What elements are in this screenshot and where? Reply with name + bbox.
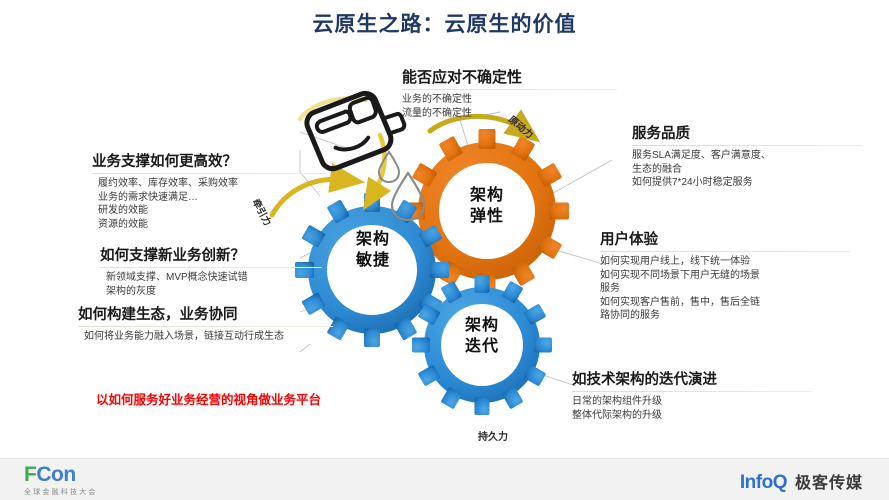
block-ecology: 如何构建生态，业务协同 如何将业务能力融入场景，链接互动行成生态 [78, 303, 333, 344]
block-quality-line: 如何提供7*24小时稳定服务 [632, 176, 862, 190]
fcon-logo-con: Con [36, 463, 75, 486]
fcon-logo-f: F [24, 463, 36, 486]
block-efficiency: 业务支撑如何更高效？ 履约效率、库存效率、采购效率 业务的需求快速满足… 研发的… [92, 150, 327, 231]
block-innovation-body: 新领域支撑、MVP概念快速试错 架构的灰度 [100, 271, 322, 298]
infoq-logo-wordmark: InfoQ [740, 472, 787, 494]
red-emphasis-note: 以如何服务好业务经营的视角做业务平台 [96, 389, 321, 408]
block-experience-line: 如何实现用户线上，线下统一体验 [600, 255, 850, 269]
slide-footer: FCon 全球金融科技大会 InfoQ 极客传媒 [0, 458, 889, 500]
block-efficiency-line: 业务的需求快速满足… [98, 191, 327, 205]
block-quality-line: 服务SLA满足度、客户满意度、 [632, 149, 862, 163]
block-experience-body: 如何实现用户线上，线下统一体验 如何实现不同场景下用户无缝的场景 服务 如何实现… [600, 255, 850, 323]
block-evolution-body: 日常的架构组件升级 整体代际架构的升级 [572, 395, 812, 422]
block-evolution: 如技术架构的迭代演进 日常的架构组件升级 整体代际架构的升级 [572, 368, 812, 422]
block-uncertainty-line: 流量的不确定性 [402, 107, 617, 121]
infoq-logo: InfoQ 极客传媒 [740, 469, 863, 494]
block-evolution-heading: 如技术架构的迭代演进 [572, 368, 812, 391]
block-quality: 服务品质 服务SLA满足度、客户满意度、 生态的融合 如何提供7*24小时稳定服… [632, 122, 862, 190]
gear-label-agile-line2: 敏捷 [318, 250, 428, 271]
block-experience-line: 如何实现不同场景下用户无缝的场景 [600, 269, 850, 283]
gear-label-elastic: 架构 弹性 [432, 185, 542, 227]
block-uncertainty-heading: 能否应对不确定性 [402, 66, 617, 89]
block-innovation-heading: 如何支撑新业务创新？ [100, 244, 322, 267]
block-ecology-body: 如何将业务能力融入场景，链接互动行成生态 [78, 330, 333, 344]
block-experience-line: 路协同的服务 [600, 309, 850, 323]
block-experience-line: 服务 [600, 282, 850, 296]
block-efficiency-body: 履约效率、库存效率、采购效率 业务的需求快速满足… 研发的效能 资源的效能 [92, 177, 327, 231]
gear-label-iterate-line1: 架构 [427, 315, 537, 336]
block-experience-heading: 用户体验 [600, 228, 850, 251]
fcon-logo-subtitle: 全球金融科技大会 [24, 487, 98, 497]
block-efficiency-heading: 业务支撑如何更高效？ [92, 150, 327, 173]
block-ecology-line: 如何将业务能力融入场景，链接互动行成生态 [84, 330, 333, 344]
block-efficiency-line: 资源的效能 [98, 218, 327, 232]
block-quality-rule [632, 145, 862, 146]
fcon-logo-wordmark: FCon [24, 464, 98, 486]
block-experience-line: 如何实现客户售前，售中，售后全链 [600, 296, 850, 310]
block-innovation: 如何支撑新业务创新？ 新领域支撑、MVP概念快速试错 架构的灰度 [100, 244, 322, 298]
block-innovation-rule [100, 267, 322, 268]
block-evolution-line: 日常的架构组件升级 [572, 395, 812, 409]
block-innovation-line: 架构的灰度 [106, 285, 322, 299]
block-uncertainty-line: 业务的不确定性 [402, 93, 617, 107]
gear-label-agile: 架构 敏捷 [318, 229, 428, 271]
block-evolution-line: 整体代际架构的升级 [572, 409, 812, 423]
block-quality-line: 生态的融合 [632, 163, 862, 177]
block-uncertainty-body: 业务的不确定性 流量的不确定性 [402, 93, 617, 120]
gear-label-elastic-line2: 弹性 [432, 206, 542, 227]
block-experience: 用户体验 如何实现用户线上，线下统一体验 如何实现不同场景下用户无缝的场景 服务… [600, 228, 850, 323]
block-uncertainty-rule [402, 89, 617, 90]
block-quality-body: 服务SLA满足度、客户满意度、 生态的融合 如何提供7*24小时稳定服务 [632, 149, 862, 190]
block-evolution-rule [572, 391, 812, 392]
infoq-logo-media: 极客传媒 [795, 469, 863, 493]
block-efficiency-rule [92, 173, 327, 174]
block-efficiency-line: 履约效率、库存效率、采购效率 [98, 177, 327, 191]
block-innovation-line: 新领域支撑、MVP概念快速试错 [106, 271, 322, 285]
block-uncertainty: 能否应对不确定性 业务的不确定性 流量的不确定性 [402, 66, 617, 120]
block-experience-rule [600, 251, 850, 252]
gear-label-iterate-line2: 迭代 [427, 336, 537, 357]
gear-label-agile-line1: 架构 [318, 229, 428, 250]
slide-root: 云原生之路：云原生的价值 [0, 0, 889, 500]
block-quality-heading: 服务品质 [632, 122, 862, 145]
fcon-logo: FCon 全球金融科技大会 [24, 464, 98, 497]
block-ecology-heading: 如何构建生态，业务协同 [78, 303, 333, 326]
block-efficiency-line: 研发的效能 [98, 204, 327, 218]
gear-label-iterate: 架构 迭代 [427, 315, 537, 357]
block-ecology-rule [78, 326, 333, 327]
gear-label-elastic-line1: 架构 [432, 185, 542, 206]
arc-caption-endurance: 持久力 [478, 428, 508, 443]
